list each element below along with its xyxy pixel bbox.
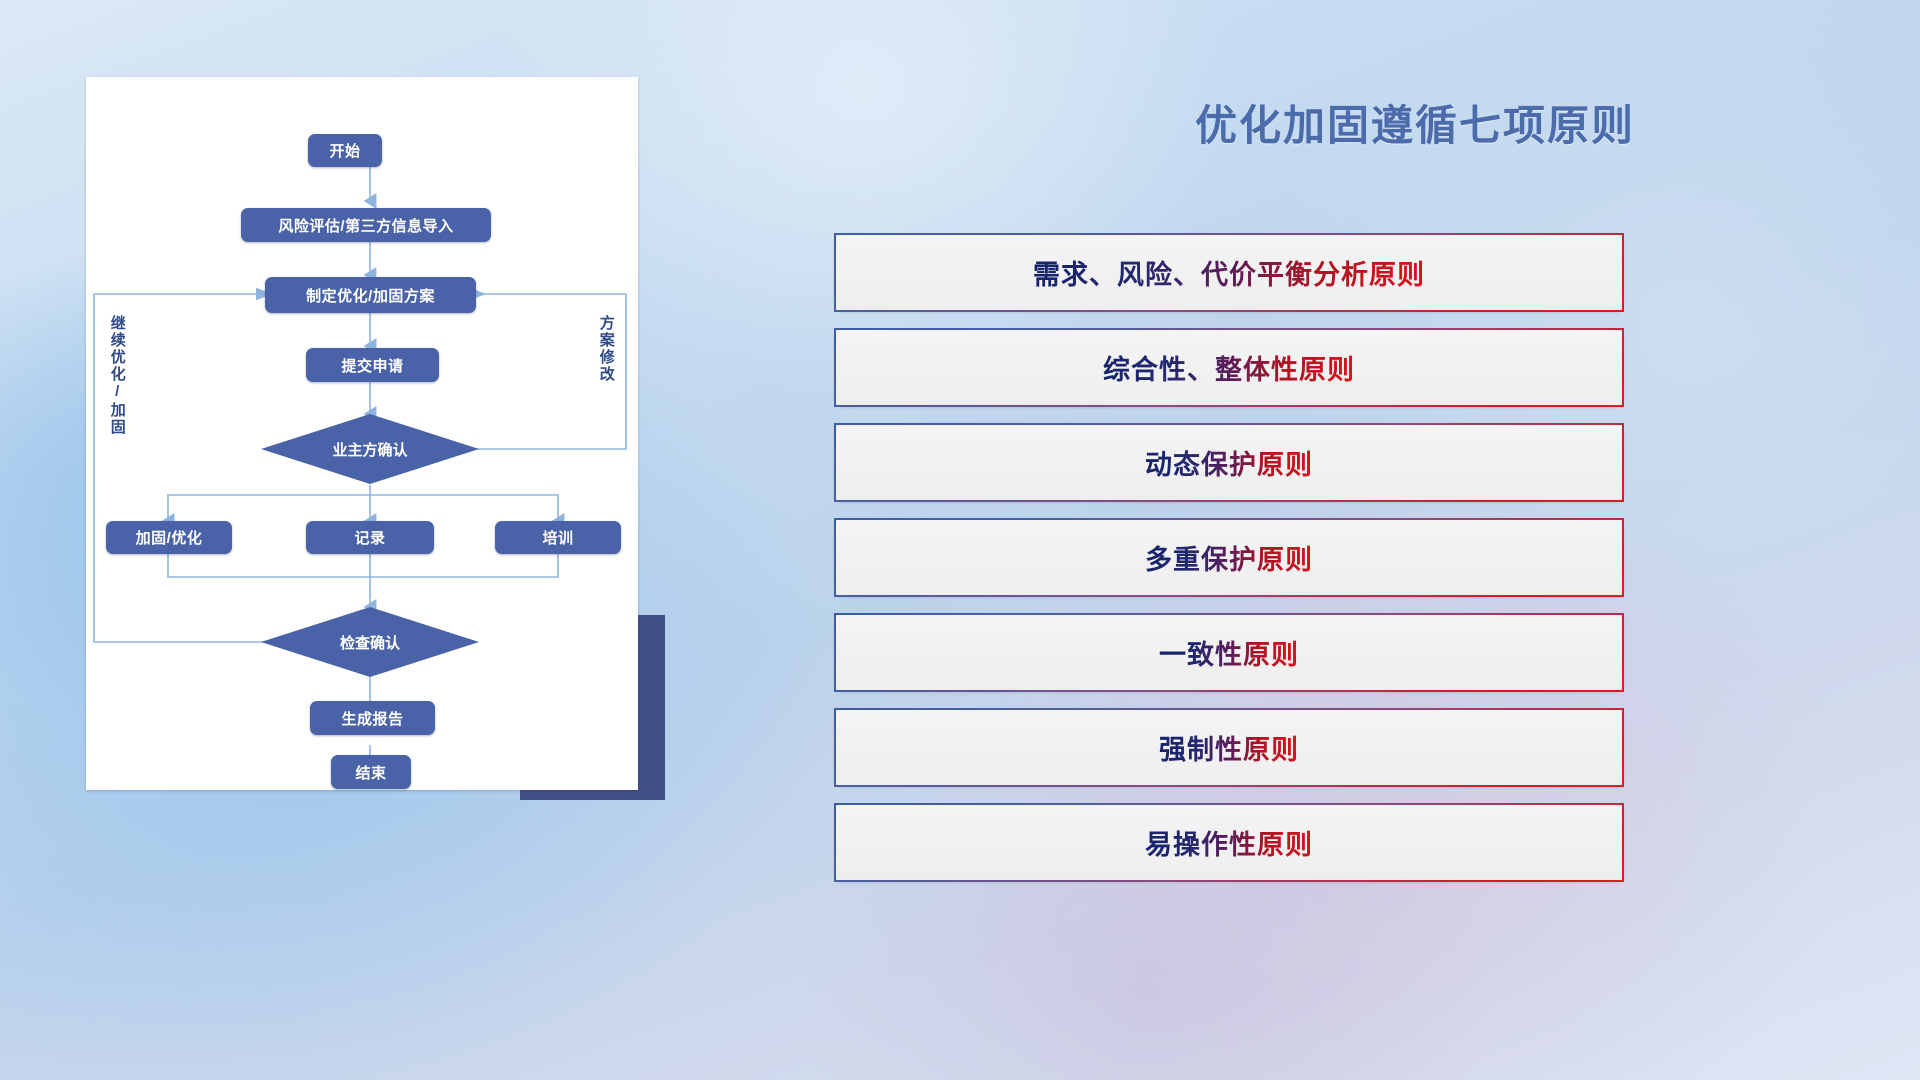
flow-node-owner-confirm[interactable]: 业主方确认 (261, 414, 479, 484)
flow-node-label: 开始 (329, 140, 360, 161)
flow-node-label: 制定优化/加固方案 (306, 285, 435, 306)
principle-label: 多重保护原则 (1145, 538, 1313, 577)
flow-node-reinforce[interactable]: 加固/优化 (106, 521, 232, 554)
list-item[interactable]: 综合性、整体性原则 (834, 328, 1624, 407)
flow-node-generate-report[interactable]: 生成报告 (310, 701, 435, 735)
list-item[interactable]: 需求、风险、代价平衡分析原则 (834, 233, 1624, 312)
edge-label-plan-revision: 方案修改 (598, 315, 614, 405)
flow-node-label: 生成报告 (341, 708, 403, 729)
flow-node-risk-assessment[interactable]: 风险评估/第三方信息导入 (241, 208, 491, 242)
flow-node-label: 风险评估/第三方信息导入 (278, 215, 453, 236)
principle-label: 需求、风险、代价平衡分析原则 (1033, 253, 1425, 292)
principle-label: 一致性原则 (1159, 633, 1299, 672)
principles-list: 需求、风险、代价平衡分析原则 综合性、整体性原则 动态保护原则 多重保护原则 一… (834, 233, 1624, 898)
flow-node-label: 检查确认 (340, 632, 400, 653)
edge-label-continue-optimize: 继续优化/加固 (109, 315, 125, 445)
list-item[interactable]: 强制性原则 (834, 708, 1624, 787)
flow-node-record[interactable]: 记录 (306, 521, 434, 554)
flow-node-submit-application[interactable]: 提交申请 (306, 348, 439, 382)
flow-node-label: 业主方确认 (332, 439, 407, 460)
page-title: 优化加固遵循七项原则 (1020, 92, 1810, 153)
principle-label: 易操作性原则 (1145, 823, 1313, 862)
flow-node-start[interactable]: 开始 (308, 134, 382, 167)
flow-node-plan[interactable]: 制定优化/加固方案 (265, 277, 476, 313)
principle-label: 强制性原则 (1159, 728, 1299, 767)
principle-label: 动态保护原则 (1145, 443, 1313, 482)
list-item[interactable]: 易操作性原则 (834, 803, 1624, 882)
flow-node-label: 记录 (354, 527, 385, 548)
list-item[interactable]: 动态保护原则 (834, 423, 1624, 502)
list-item[interactable]: 多重保护原则 (834, 518, 1624, 597)
flow-node-label: 培训 (542, 527, 573, 548)
flow-node-label: 结束 (355, 762, 386, 783)
flow-node-training[interactable]: 培训 (495, 521, 621, 554)
principles-panel: 优化加固遵循七项原则 需求、风险、代价平衡分析原则 综合性、整体性原则 动态保护… (1020, 0, 1920, 1080)
flow-node-check-confirm[interactable]: 检查确认 (261, 607, 479, 677)
flow-node-label: 加固/优化 (136, 527, 203, 548)
principle-label: 综合性、整体性原则 (1103, 348, 1355, 387)
flow-node-label: 提交申请 (341, 355, 403, 376)
flow-node-end[interactable]: 结束 (331, 755, 411, 789)
list-item[interactable]: 一致性原则 (834, 613, 1624, 692)
flowchart-card: 开始 风险评估/第三方信息导入 制定优化/加固方案 提交申请 业主方确认 加固/… (86, 77, 638, 790)
